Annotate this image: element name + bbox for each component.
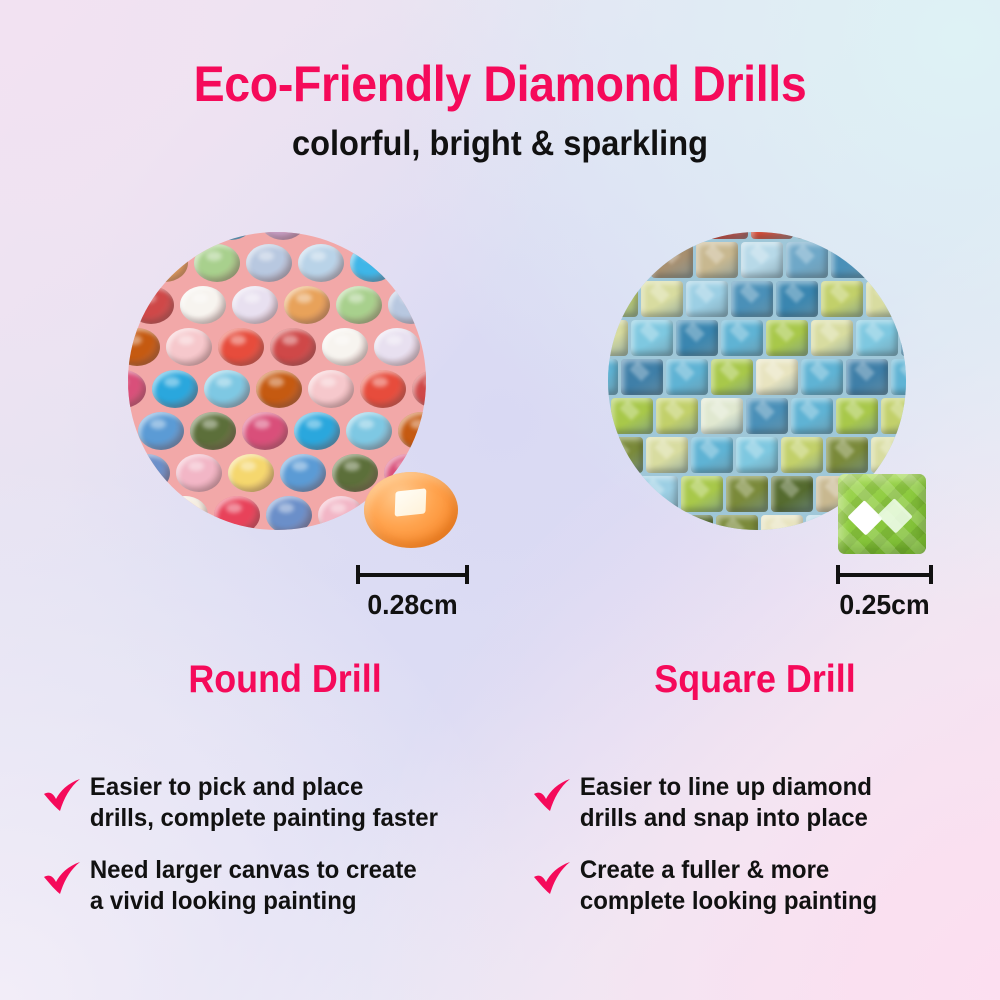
list-item-line1: Need larger canvas to create xyxy=(90,855,417,886)
page-subtitle: colorful, bright & sparkling xyxy=(35,125,965,164)
list-item-text: Easier to line up diamond drills and sna… xyxy=(576,772,872,833)
drill-bead xyxy=(881,398,906,434)
drill-bead xyxy=(841,232,883,239)
drill-bead xyxy=(771,476,813,512)
drill-bead xyxy=(128,328,160,366)
drill-bead xyxy=(256,370,302,408)
drill-bead xyxy=(260,232,306,240)
drill-bead xyxy=(701,398,743,434)
drill-bead xyxy=(608,242,648,278)
drill-bead xyxy=(731,281,773,317)
drill-bead xyxy=(826,437,868,473)
drill-bead xyxy=(360,370,406,408)
drill-bead xyxy=(608,437,643,473)
drill-bead xyxy=(156,232,202,240)
drill-bead xyxy=(691,437,733,473)
drill-bead xyxy=(270,328,316,366)
list-item: Easier to line up diamond drills and sna… xyxy=(530,772,1000,833)
drill-bead xyxy=(811,320,853,356)
drill-bead xyxy=(128,496,156,530)
page-title: Eco-Friendly Diamond Drills xyxy=(35,58,965,111)
check-mark-icon xyxy=(40,774,86,820)
drill-bead xyxy=(671,515,713,530)
measurement-line xyxy=(356,573,469,577)
drill-bead xyxy=(194,244,240,282)
drill-bead xyxy=(228,454,274,492)
measurement-cap-right xyxy=(929,565,933,584)
drill-bead xyxy=(621,359,663,395)
check-mark-icon xyxy=(40,857,86,903)
drill-bead xyxy=(176,454,222,492)
drill-bead xyxy=(180,286,226,324)
round-gem-highlight xyxy=(395,488,427,517)
drill-bead xyxy=(686,281,728,317)
list-item-text: Create a fuller & more complete looking … xyxy=(576,855,877,916)
drill-bead xyxy=(246,244,292,282)
drill-bead xyxy=(322,328,368,366)
drill-bead xyxy=(608,320,628,356)
drill-bead xyxy=(128,232,150,240)
drill-bead xyxy=(641,281,683,317)
drill-bead xyxy=(846,359,888,395)
drill-bead xyxy=(128,454,170,492)
drill-bead xyxy=(364,232,410,240)
round-drill-measurement: 0.28cm xyxy=(356,565,469,621)
drill-bead xyxy=(128,412,132,450)
drill-bead xyxy=(866,281,906,317)
drill-bead xyxy=(716,515,758,530)
drill-bead xyxy=(608,281,638,317)
drill-bead xyxy=(214,496,260,530)
drill-bead xyxy=(901,320,906,356)
list-item-text: Easier to pick and place drills, complet… xyxy=(86,772,438,833)
drill-bead xyxy=(856,320,898,356)
drill-bead xyxy=(696,242,738,278)
drill-bead xyxy=(661,232,703,239)
round-drill-gem xyxy=(364,472,458,548)
drill-bead xyxy=(346,412,392,450)
list-item-line2: drills, complete painting faster xyxy=(90,803,438,834)
drill-bead xyxy=(608,232,613,239)
drill-bead xyxy=(402,244,426,282)
drill-bead xyxy=(142,244,188,282)
drill-bead xyxy=(646,437,688,473)
drill-bead xyxy=(761,515,803,530)
drill-bead xyxy=(741,242,783,278)
drill-bead xyxy=(416,232,426,240)
drill-bead xyxy=(886,232,906,239)
drill-bead xyxy=(766,320,808,356)
drill-bead xyxy=(166,328,212,366)
drill-bead xyxy=(676,320,718,356)
measurement-bar xyxy=(836,565,933,583)
drill-bead xyxy=(706,232,748,239)
drill-bead xyxy=(284,286,330,324)
drill-bead xyxy=(332,454,378,492)
check-mark-icon xyxy=(530,774,576,820)
drill-bead xyxy=(294,412,340,450)
drill-bead xyxy=(786,242,828,278)
square-drill-gem xyxy=(838,474,926,554)
drill-bead xyxy=(756,359,798,395)
drill-bead xyxy=(821,281,863,317)
list-item: Easier to pick and place drills, complet… xyxy=(40,772,510,833)
measurement-line xyxy=(836,573,933,577)
drill-bead xyxy=(204,370,250,408)
measurement-bar xyxy=(356,565,469,583)
square-drill-measurement: 0.25cm xyxy=(836,565,933,621)
drill-bead xyxy=(776,281,818,317)
drill-bead xyxy=(128,370,146,408)
drill-bead xyxy=(711,359,753,395)
drill-bead xyxy=(162,496,208,530)
drill-bead xyxy=(266,496,312,530)
list-item-line2: complete looking painting xyxy=(580,886,877,917)
drill-bead xyxy=(831,242,873,278)
drill-bead xyxy=(721,320,763,356)
drill-bead xyxy=(312,232,358,240)
drill-bead xyxy=(751,232,793,239)
list-item-line1: Easier to pick and place xyxy=(90,772,438,803)
drill-bead xyxy=(636,476,678,512)
drill-bead xyxy=(608,515,623,530)
drill-bead xyxy=(280,454,326,492)
drill-bead xyxy=(242,412,288,450)
drill-bead xyxy=(796,232,838,239)
round-drill-heading: Round Drill xyxy=(124,658,446,702)
drill-bead xyxy=(208,232,254,240)
drill-bead xyxy=(791,398,833,434)
square-drill-heading: Square Drill xyxy=(576,658,935,702)
drill-bead xyxy=(836,398,878,434)
check-mark-icon xyxy=(530,857,576,903)
list-item-line2: a vivid looking painting xyxy=(90,886,417,917)
drill-bead xyxy=(190,412,236,450)
drill-bead xyxy=(651,242,693,278)
drill-bead xyxy=(801,359,843,395)
list-item-line2: drills and snap into place xyxy=(580,803,872,834)
drill-bead xyxy=(318,496,364,530)
list-item-text: Need larger canvas to create a vivid loo… xyxy=(86,855,417,916)
drill-bead xyxy=(308,370,354,408)
drill-bead xyxy=(608,476,633,512)
measurement-label: 0.25cm xyxy=(838,589,930,621)
header: Eco-Friendly Diamond Drills colorful, br… xyxy=(0,58,1000,164)
round-drill-benefits: Easier to pick and place drills, complet… xyxy=(40,772,510,938)
drill-bead xyxy=(412,370,426,408)
drill-bead xyxy=(616,232,658,239)
drill-bead xyxy=(656,398,698,434)
drill-bead xyxy=(781,437,823,473)
drill-bead xyxy=(388,286,426,324)
drill-bead xyxy=(666,359,708,395)
drill-bead xyxy=(608,359,618,395)
drill-bead xyxy=(736,437,778,473)
drill-bead xyxy=(374,328,420,366)
drill-bead xyxy=(218,328,264,366)
square-drill-benefits: Easier to line up diamond drills and sna… xyxy=(530,772,1000,938)
measurement-label: 0.28cm xyxy=(359,589,466,621)
drill-bead xyxy=(232,286,278,324)
infographic-page: Eco-Friendly Diamond Drills colorful, br… xyxy=(0,0,1000,1000)
drill-bead xyxy=(681,476,723,512)
drill-bead xyxy=(891,359,906,395)
drill-bead xyxy=(128,286,174,324)
drill-bead xyxy=(626,515,668,530)
drill-bead xyxy=(152,370,198,408)
list-item: Create a fuller & more complete looking … xyxy=(530,855,1000,916)
measurement-cap-right xyxy=(465,565,469,584)
drill-bead xyxy=(350,244,396,282)
drill-bead xyxy=(726,476,768,512)
drill-bead xyxy=(398,412,426,450)
list-item-line1: Easier to line up diamond xyxy=(580,772,872,803)
drill-bead xyxy=(138,412,184,450)
drill-bead xyxy=(871,437,906,473)
drill-bead xyxy=(876,242,906,278)
drill-bead xyxy=(746,398,788,434)
drill-bead xyxy=(631,320,673,356)
drill-bead xyxy=(128,244,136,282)
list-item-line1: Create a fuller & more xyxy=(580,855,877,886)
drill-bead xyxy=(336,286,382,324)
drill-bead xyxy=(298,244,344,282)
drill-bead xyxy=(611,398,653,434)
list-item: Need larger canvas to create a vivid loo… xyxy=(40,855,510,916)
